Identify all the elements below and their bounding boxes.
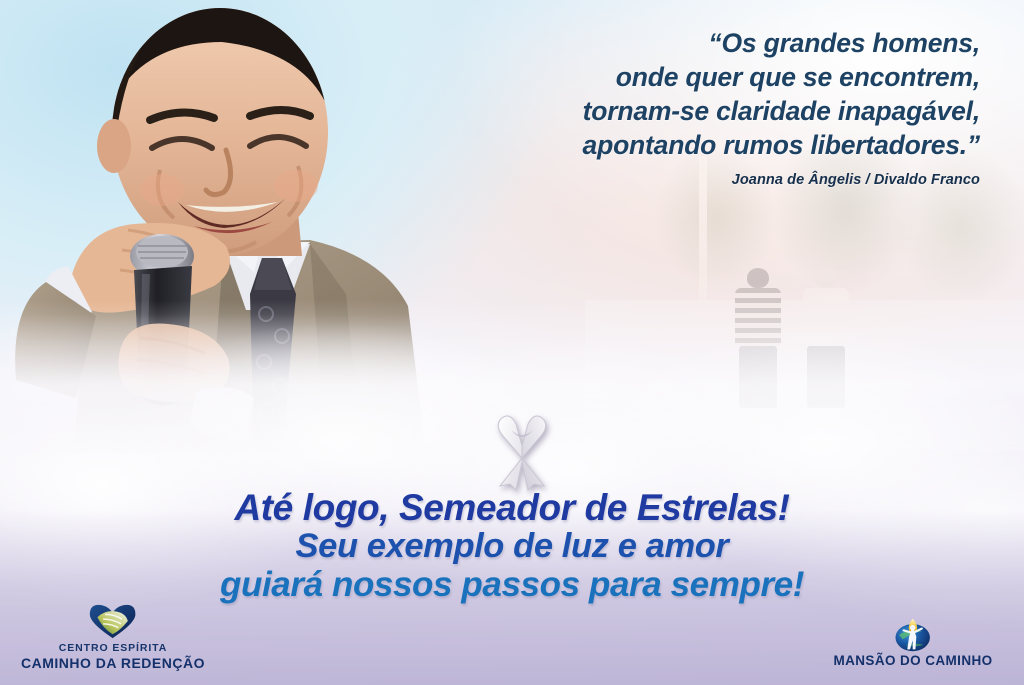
- white-ribbon-icon: [486, 410, 558, 492]
- logo-centro-espirita: CENTRO ESPÍRITA CAMINHO DA REDENÇÃO: [8, 602, 218, 671]
- headline-line-1: Até logo, Semeador de Estrelas!: [0, 488, 1024, 527]
- heart-hands-icon: [8, 602, 218, 640]
- walking-man-striped-shirt: [735, 268, 781, 408]
- quote-author: Joanna de Ângelis / Divaldo Franco: [732, 172, 980, 188]
- logo-left-line-2: CAMINHO DA REDENÇÃO: [8, 655, 218, 671]
- logo-right-line-1: MANSÃO DO CAMINHO: [808, 653, 1018, 669]
- quote-line-4: apontando rumos libertadores.”: [420, 128, 980, 162]
- head: [815, 268, 837, 288]
- legs: [807, 346, 845, 408]
- headline-block: Até logo, Semeador de Estrelas! Seu exem…: [0, 488, 1024, 604]
- quote-block: “Os grandes homens, onde quer que se enc…: [420, 26, 980, 162]
- headline-line-2: Seu exemplo de luz e amor: [0, 527, 1024, 565]
- torso: [735, 288, 781, 346]
- quote-line-1: “Os grandes homens,: [420, 26, 980, 60]
- head: [747, 268, 769, 288]
- tribute-banner: “Os grandes homens, onde quer que se enc…: [0, 0, 1024, 685]
- legs: [739, 346, 777, 408]
- quote-line-2: onde quer que se encontrem,: [420, 60, 980, 94]
- logo-mansao-do-caminho: MANSÃO DO CAMINHO: [808, 615, 1018, 669]
- portrait-divaldo: [10, 0, 480, 454]
- walking-man-white-shirt: [803, 268, 849, 408]
- globe-figure-flame-icon: [808, 615, 1018, 653]
- quote-line-3: tornam-se claridade inapagável,: [420, 94, 980, 128]
- headline-line-3: guiará nossos passos para sempre!: [0, 565, 1024, 604]
- logo-left-line-1: CENTRO ESPÍRITA: [8, 642, 218, 655]
- torso: [803, 288, 849, 346]
- background-photo-two-men-walking: [585, 150, 1024, 450]
